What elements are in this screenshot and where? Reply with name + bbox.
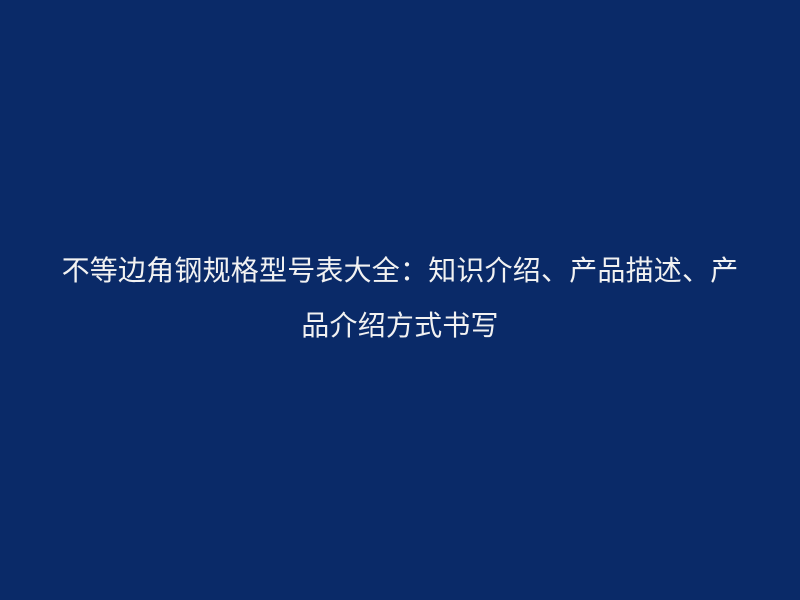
title-block: 不等边角钢规格型号表大全：知识介绍、产品描述、产品介绍方式书写 xyxy=(55,243,745,353)
page-title: 不等边角钢规格型号表大全：知识介绍、产品描述、产品介绍方式书写 xyxy=(55,243,745,353)
title-card: 不等边角钢规格型号表大全：知识介绍、产品描述、产品介绍方式书写 xyxy=(0,0,800,600)
